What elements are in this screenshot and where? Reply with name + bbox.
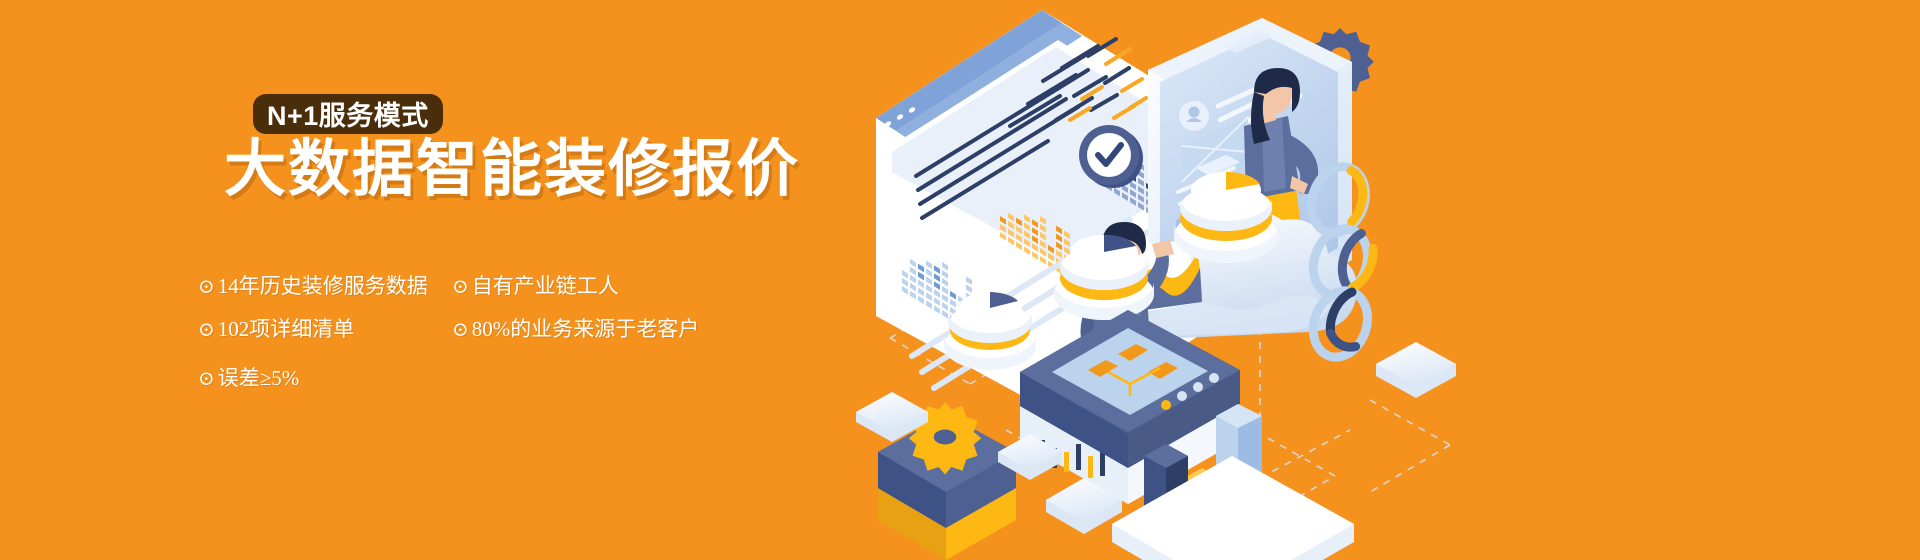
list-item: ⊙ 102项详细清单 bbox=[198, 319, 428, 340]
list-item-label: 80%的业务来源于老客户 bbox=[472, 319, 700, 340]
list-item: ⊙ 误差≥5% bbox=[198, 368, 428, 389]
bullet-dot-icon: ⊙ bbox=[452, 320, 469, 340]
list-item-label: 自有产业链工人 bbox=[472, 276, 619, 297]
floating-tile-2 bbox=[1376, 342, 1456, 398]
feature-list-left-column: ⊙ 14年历史装修服务数据 ⊙ 102项详细清单 ⊙ 误差≥5% bbox=[198, 276, 428, 389]
service-model-badge: N+1服务模式 bbox=[253, 94, 443, 134]
copy-block: N+1服务模式 大数据智能装修报价 ⊙ 14年历史装修服务数据 ⊙ 102项详细… bbox=[0, 0, 860, 560]
promo-banner: N+1服务模式 大数据智能装修报价 ⊙ 14年历史装修服务数据 ⊙ 102项详细… bbox=[0, 0, 1920, 560]
bullet-dot-icon: ⊙ bbox=[198, 320, 215, 340]
list-item: ⊙ 80%的业务来源于老客户 bbox=[452, 319, 699, 340]
feature-list-right-column: ⊙ 自有产业链工人 ⊙ 80%的业务来源于老客户 bbox=[452, 276, 699, 340]
list-item: ⊙ 自有产业链工人 bbox=[452, 276, 699, 297]
list-item-label: 102项详细清单 bbox=[218, 319, 355, 340]
bullet-dot-icon: ⊙ bbox=[198, 369, 215, 389]
list-item-label: 误差≥5% bbox=[218, 368, 300, 389]
badge-label: N+1服务模式 bbox=[267, 94, 429, 133]
bullet-dot-icon: ⊙ bbox=[198, 277, 215, 297]
hero-illustration bbox=[830, 0, 1920, 560]
list-item: ⊙ 14年历史装修服务数据 bbox=[198, 276, 428, 297]
page-title: 大数据智能装修报价 bbox=[224, 134, 800, 205]
bullet-dot-icon: ⊙ bbox=[452, 277, 469, 297]
list-item-label: 14年历史装修服务数据 bbox=[218, 276, 428, 297]
